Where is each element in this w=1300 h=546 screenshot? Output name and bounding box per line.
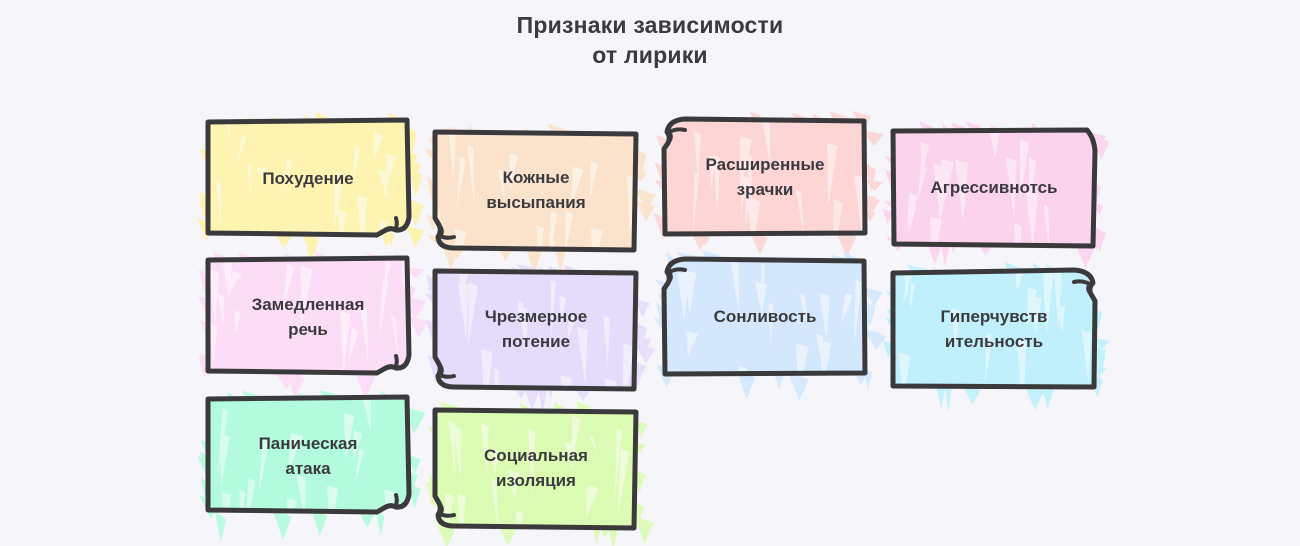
- card-frame-icon: [202, 255, 414, 380]
- card-grid: ПохудениеКожные высыпанияРасширенные зра…: [0, 0, 1300, 546]
- card-frame-icon: [888, 126, 1100, 251]
- card-frame-icon: [888, 267, 1100, 392]
- symptom-card[interactable]: Паническая атака: [202, 394, 414, 519]
- symptom-card[interactable]: Чрезмерное потение: [430, 267, 642, 392]
- card-frame-icon: [659, 115, 871, 240]
- card-fill: [208, 397, 409, 512]
- symptom-card[interactable]: Расширенные зрачки: [659, 115, 871, 240]
- sketch-board-page: Признаки зависимости от лирики Похудение…: [0, 0, 1300, 546]
- card-frame-icon: [202, 394, 414, 519]
- card-frame-icon: [430, 128, 642, 253]
- card-fill: [435, 410, 636, 528]
- symptom-card[interactable]: Кожные высыпания: [430, 128, 642, 253]
- card-frame-icon: [659, 255, 871, 380]
- symptom-card[interactable]: Похудение: [202, 117, 414, 242]
- symptom-card[interactable]: Замедленная речь: [202, 255, 414, 380]
- symptom-card[interactable]: Гиперчувств ительность: [888, 267, 1100, 392]
- symptom-card[interactable]: Сонливость: [659, 255, 871, 380]
- card-frame-icon: [430, 406, 642, 531]
- symptom-card[interactable]: Социальная изоляция: [430, 406, 642, 531]
- card-fill: [893, 270, 1095, 387]
- card-frame-icon: [430, 267, 642, 392]
- symptom-card[interactable]: Агрессивнотсь: [888, 126, 1100, 251]
- card-frame-icon: [202, 117, 414, 242]
